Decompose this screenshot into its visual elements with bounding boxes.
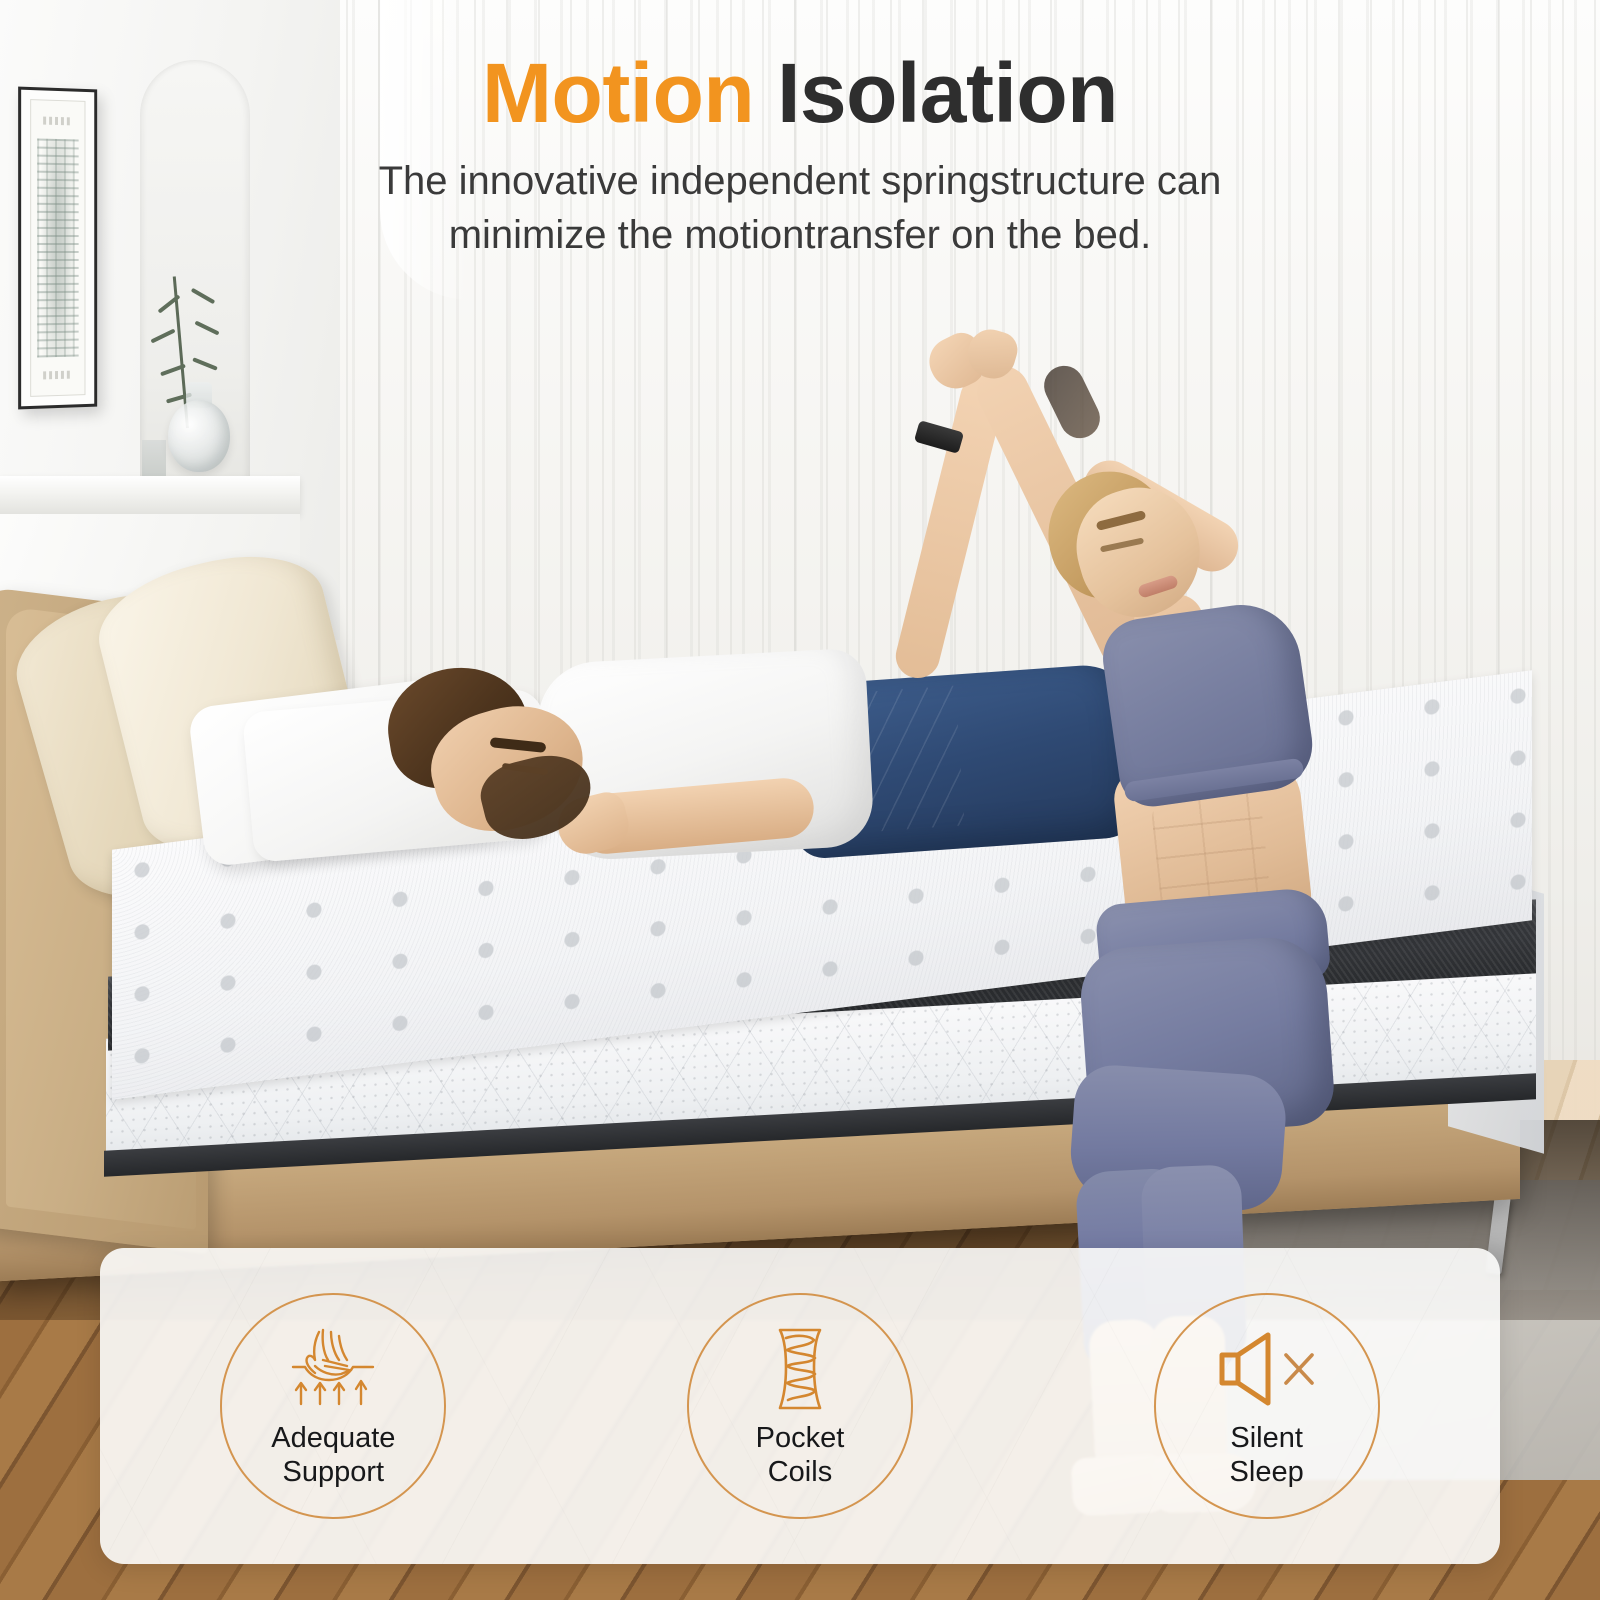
feature-label-line-1: Silent [1230, 1421, 1304, 1455]
art-ornate-pattern [37, 138, 78, 357]
feature-badge-pocket-coils[interactable]: Pocket Coils [687, 1293, 913, 1519]
feature-panel: Adequate Support Pocket Coils [100, 1248, 1500, 1564]
muted-speaker-icon [1212, 1323, 1322, 1415]
feature-label-line-2: Sleep [1230, 1455, 1304, 1489]
framed-wall-art [18, 87, 97, 410]
pocket-coil-spring-icon [760, 1323, 840, 1415]
marketing-image-stage: Motion Isolation The innovative independ… [0, 0, 1600, 1600]
glass-vase [168, 400, 230, 472]
feature-label-line-2: Coils [756, 1455, 845, 1489]
feature-badge-label: Pocket Coils [756, 1421, 845, 1489]
person-stretching [900, 330, 1370, 1330]
feature-badge-silent-sleep[interactable]: Silent Sleep [1154, 1293, 1380, 1519]
sprig-leaf [192, 357, 218, 370]
hand-pressing-mattress-icon [279, 1323, 387, 1415]
feature-badge-label: Silent Sleep [1230, 1421, 1304, 1489]
feature-label-line-1: Adequate [271, 1421, 395, 1455]
feature-label-line-1: Pocket [756, 1421, 845, 1455]
sprig-leaf [150, 329, 175, 344]
sprig-leaf [194, 321, 219, 336]
art-caption-top [43, 117, 73, 126]
sprig-leaf [191, 288, 216, 304]
feature-label-line-2: Support [271, 1455, 395, 1489]
art-caption-bottom [43, 371, 73, 380]
arch-wall-edge [380, 0, 470, 300]
wall-molding [0, 476, 300, 514]
feature-badge-adequate-support[interactable]: Adequate Support [220, 1293, 446, 1519]
feature-badge-label: Adequate Support [271, 1421, 395, 1489]
